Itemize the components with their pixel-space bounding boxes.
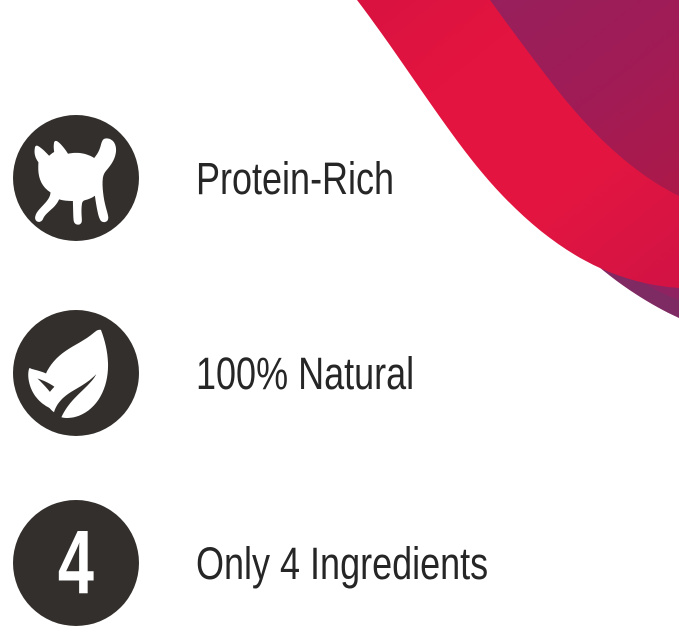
number-four-icon: 4 (58, 518, 93, 608)
leaf-icon (13, 310, 139, 436)
feature-badge-circle (13, 310, 139, 436)
feature-label: Protein-Rich (196, 156, 394, 201)
feature-row: Protein-Rich (0, 113, 679, 243)
feature-highlights-panel: Protein-Rich 100% Natural 4 Only 4 Ingre… (0, 0, 679, 639)
cat-icon (13, 115, 139, 241)
feature-badge-circle (13, 115, 139, 241)
feature-label: 100% Natural (196, 351, 414, 396)
feature-row: 100% Natural (0, 308, 679, 438)
feature-label: Only 4 Ingredients (196, 541, 488, 586)
feature-badge-circle: 4 (13, 500, 139, 626)
feature-row: 4 Only 4 Ingredients (0, 498, 679, 628)
